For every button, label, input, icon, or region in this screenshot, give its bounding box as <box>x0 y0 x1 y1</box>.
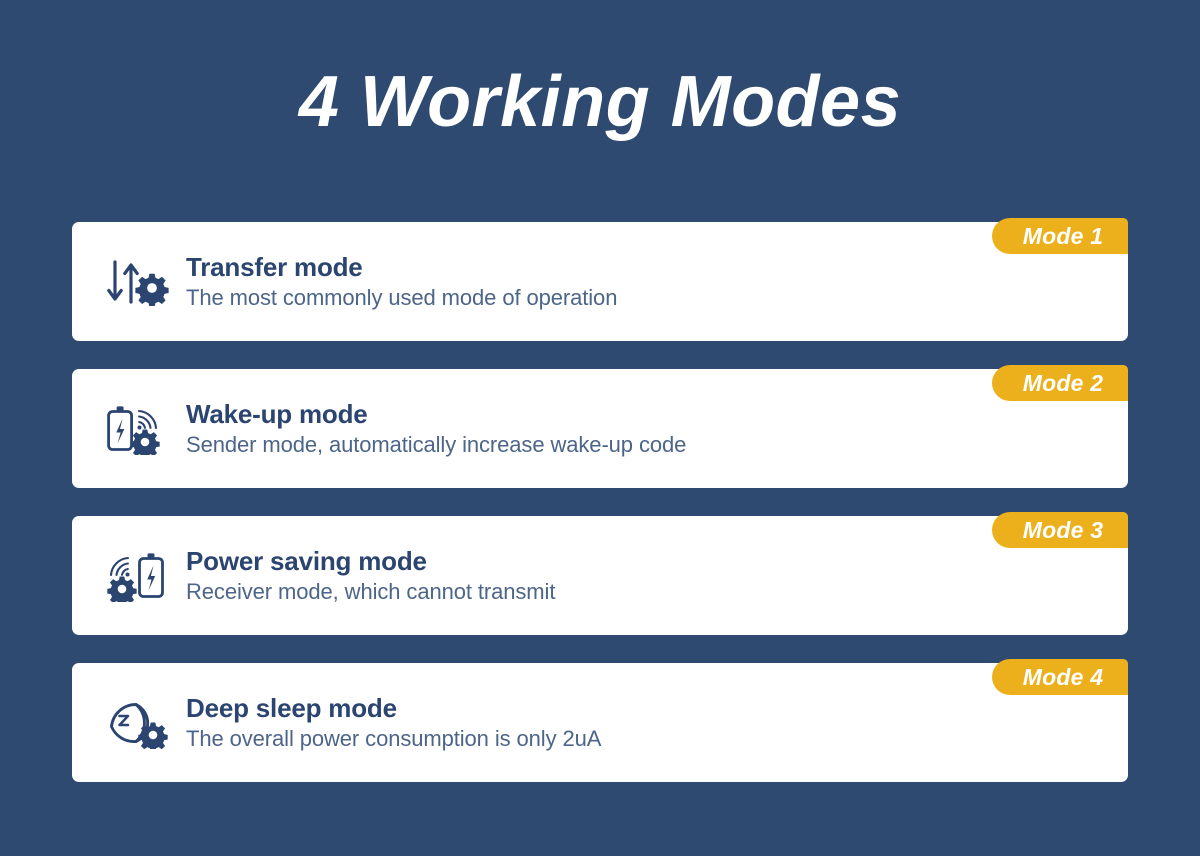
mode-card-slot-1: Transfer mode The most commonly used mod… <box>72 222 1128 369</box>
mode-card-content-1: Transfer mode The most commonly used mod… <box>100 222 1108 341</box>
mode-card-content-2: Wake-up mode Sender mode, automatically … <box>100 369 1108 488</box>
signal-gear-battery-icon <box>100 545 176 607</box>
transfer-arrows-gear-icon <box>100 251 176 313</box>
modes-list: Transfer mode The most commonly used mod… <box>72 222 1128 810</box>
mode-text-1: Transfer mode The most commonly used mod… <box>186 250 617 312</box>
mode-title: Wake-up mode <box>186 399 686 430</box>
mode-badge-4: Mode 4 <box>992 659 1128 695</box>
mode-title: Deep sleep mode <box>186 693 601 724</box>
mode-text-2: Wake-up mode Sender mode, automatically … <box>186 397 686 459</box>
mode-card-4[interactable]: Deep sleep mode The overall power consum… <box>72 663 1128 782</box>
poster-root: 4 Working Modes <box>0 0 1200 856</box>
battery-signal-gear-icon <box>100 398 176 460</box>
mode-badge-3: Mode 3 <box>992 512 1128 548</box>
mode-card-1[interactable]: Transfer mode The most commonly used mod… <box>72 222 1128 341</box>
mode-description: Sender mode, automatically increase wake… <box>186 431 686 460</box>
page-title-container: 4 Working Modes <box>0 66 1200 138</box>
mode-card-slot-4: Deep sleep mode The overall power consum… <box>72 663 1128 810</box>
mode-text-4: Deep sleep mode The overall power consum… <box>186 691 601 753</box>
mode-badge-label: Mode 2 <box>1023 372 1103 395</box>
mode-card-3[interactable]: Power saving mode Receiver mode, which c… <box>72 516 1128 635</box>
mode-description: Receiver mode, which cannot transmit <box>186 578 555 607</box>
moon-sleep-gear-icon <box>100 692 176 754</box>
mode-card-content-4: Deep sleep mode The overall power consum… <box>100 663 1108 782</box>
mode-description: The most commonly used mode of operation <box>186 284 617 313</box>
mode-badge-1: Mode 1 <box>992 218 1128 254</box>
mode-badge-label: Mode 4 <box>1023 666 1103 689</box>
mode-title: Power saving mode <box>186 546 555 577</box>
mode-card-content-3: Power saving mode Receiver mode, which c… <box>100 516 1108 635</box>
mode-badge-label: Mode 1 <box>1023 225 1103 248</box>
mode-title: Transfer mode <box>186 252 617 283</box>
mode-badge-label: Mode 3 <box>1023 519 1103 542</box>
mode-text-3: Power saving mode Receiver mode, which c… <box>186 544 555 606</box>
mode-badge-2: Mode 2 <box>992 365 1128 401</box>
page-title: 4 Working Modes <box>299 66 901 138</box>
mode-card-2[interactable]: Wake-up mode Sender mode, automatically … <box>72 369 1128 488</box>
mode-description: The overall power consumption is only 2u… <box>186 725 601 754</box>
mode-card-slot-3: Power saving mode Receiver mode, which c… <box>72 516 1128 663</box>
mode-card-slot-2: Wake-up mode Sender mode, automatically … <box>72 369 1128 516</box>
